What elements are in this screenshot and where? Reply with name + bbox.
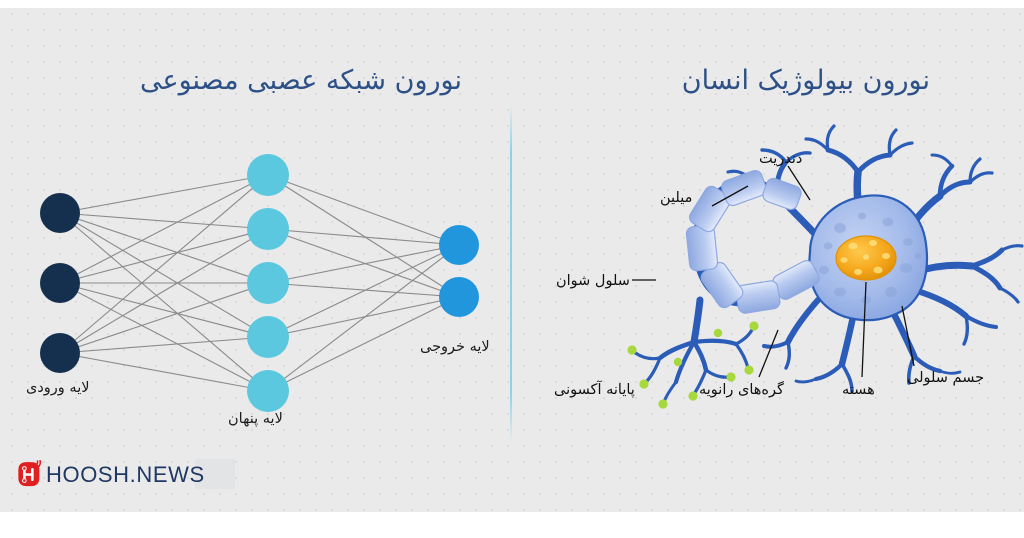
ann-node-output-2: [439, 277, 479, 317]
biological-neuron-diagram: دندریت میلین سلول شوان پایانه آکسونی گره…: [512, 0, 1024, 538]
ann-output-layer-label: لایه خروجی: [420, 339, 490, 355]
artificial-neural-network-diagram: لایه ورودی لایه پنهان لایه خروجی: [0, 0, 512, 538]
ann-node-input-3: [40, 333, 80, 373]
ann-connection: [268, 245, 459, 337]
ann-connection: [60, 175, 268, 353]
ann-node-input-2: [40, 263, 80, 303]
ann-connection: [60, 213, 268, 391]
label-nucleus: هسته: [842, 382, 875, 398]
myelin-sheath-segments: [686, 169, 822, 315]
infographic-canvas: نورون شبکه عصبی مصنوعی نورون بیولوژیک ان…: [0, 0, 1024, 538]
ann-node-hidden-2: [247, 208, 289, 250]
ann-node-hidden-1: [247, 154, 289, 196]
ann-connection: [268, 245, 459, 283]
ann-connection: [268, 245, 459, 391]
label-dendrite: دندریت: [759, 151, 802, 167]
ann-connection: [268, 229, 459, 245]
ann-node-output-1: [439, 225, 479, 265]
ann-connection: [268, 175, 459, 297]
ann-node-input-1: [40, 193, 80, 233]
ann-connection: [60, 337, 268, 353]
ann-node-hidden-3: [247, 262, 289, 304]
ann-connection: [268, 283, 459, 297]
ann-network-graphic: [0, 0, 512, 538]
ann-connection: [60, 213, 268, 229]
ann-node-hidden-5: [247, 370, 289, 412]
ann-connection: [60, 283, 268, 391]
hoosh-logo-icon: [14, 460, 43, 489]
label-cell-body: جسم سلولی: [907, 370, 984, 386]
bio-neuron-graphic: [510, 0, 1024, 538]
ann-connection: [60, 353, 268, 391]
ann-connection: [268, 175, 459, 245]
ann-connection: [268, 229, 459, 297]
ann-input-layer-label: لایه ورودی: [26, 380, 90, 396]
label-nodes-of-ranvier: گره‌های رانویه: [699, 382, 784, 398]
ann-node-hidden-4: [247, 316, 289, 358]
label-axon-terminal: پایانه آکسونی: [554, 382, 635, 398]
logo-wordmark: HOOSH.NEWS: [46, 462, 205, 488]
label-myelin: میلین: [660, 190, 692, 206]
ann-connection: [60, 175, 268, 283]
site-logo[interactable]: HOOSH.NEWS: [14, 460, 205, 489]
ann-connection: [60, 175, 268, 213]
ann-hidden-layer-label: لایه پنهان: [228, 411, 283, 427]
label-schwann-cell: سلول شوان: [556, 273, 630, 289]
ann-connection: [268, 297, 459, 337]
